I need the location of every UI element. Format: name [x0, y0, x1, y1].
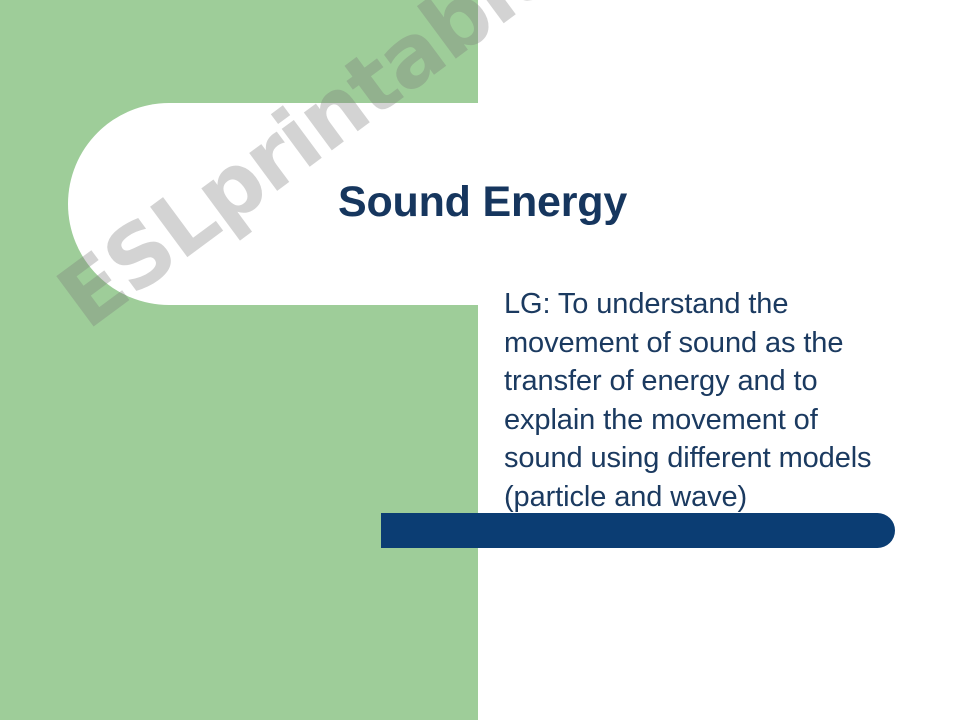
- accent-bar: [381, 513, 895, 548]
- body-line-4: explain the movement of: [504, 401, 934, 440]
- learning-goal-text: LG: To understand the movement of sound …: [504, 285, 934, 516]
- body-line-2: movement of sound as the: [504, 324, 934, 363]
- body-line-6: (particle and wave): [504, 478, 934, 517]
- presentation-slide: Sound Energy LG: To understand the movem…: [0, 0, 960, 720]
- slide-title: Sound Energy: [338, 178, 898, 226]
- body-line-1: LG: To understand the: [504, 285, 934, 324]
- body-line-5: sound using different models: [504, 439, 934, 478]
- body-line-3: transfer of energy and to: [504, 362, 934, 401]
